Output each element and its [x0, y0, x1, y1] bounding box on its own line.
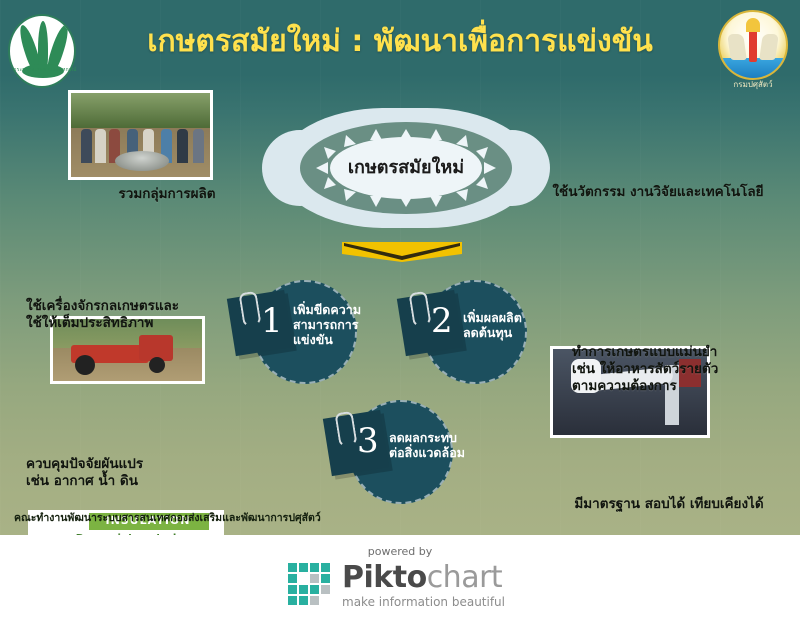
emblem-disc: [8, 14, 76, 88]
node-text-line: เพิ่มขีดความ: [293, 302, 381, 317]
node-text-line: แข่งขัน: [293, 332, 381, 347]
ministry-emblem-caption: กระทรวงเกษตรและสหกรณ์: [8, 66, 82, 74]
page-title: เกษตรสมัยใหม่ : พัฒนาเพื่อการแข่งขัน: [100, 18, 700, 66]
node-text-line: เพิ่มผลผลิต: [463, 310, 551, 325]
photo-sky: [71, 93, 210, 128]
node-2-tag: [397, 290, 463, 356]
caption-line: ควบคุมปัจจัยผันแปร: [26, 456, 252, 473]
livestock-emblem-disc: [718, 10, 788, 80]
node-1-text: เพิ่มขีดความ สามารถการ แข่งขัน: [293, 302, 381, 347]
node-3-text: ลดผลกระทบ ต่อสิ่งแวดล้อม: [389, 430, 485, 460]
emblem-horse-right: [759, 34, 779, 60]
node-2[interactable]: 2 เพิ่มผลผลิต ลดต้นทุน: [385, 278, 555, 386]
yellow-chevron-banner: [342, 240, 462, 264]
node-2-number: 2: [431, 304, 453, 338]
powered-by-label: powered by: [0, 545, 800, 558]
ministry-of-agriculture-emblem-icon: กระทรวงเกษตรและสหกรณ์: [8, 14, 82, 88]
piktochart-footer-bar: powered by: [0, 535, 800, 625]
caption-variable-control: ควบคุมปัจจัยผันแปร เช่น อากาศ น้ำ ดิน: [26, 456, 252, 490]
piktochart-wordmark: Piktochart: [342, 563, 502, 593]
piktochart-grid-icon: [288, 563, 334, 607]
caption-line: เช่น อากาศ น้ำ ดิน: [26, 473, 252, 490]
photo-person: [177, 129, 188, 163]
piktochart-tagline: make information beautiful: [342, 595, 505, 609]
photo-person: [81, 129, 92, 163]
department-of-livestock-emblem-icon: กรมปศุสัตว์: [714, 10, 792, 92]
photo-person: [193, 129, 204, 163]
caption-line: ตามความต้องการ: [572, 378, 798, 395]
node-1-tag: [227, 290, 293, 356]
footer-credit: คณะทำงานพัฒนาระบบสารสนเทศกองส่งเสริมและพ…: [14, 509, 434, 526]
caption-line: เช่น ให้อาหารสัตว์รายตัว: [572, 361, 798, 378]
caption-farmers-group: รวมกลุ่มการผลิต: [62, 186, 272, 203]
node-3-tag: [323, 410, 389, 476]
farmers-group-photo: [68, 90, 213, 180]
node-3-number: 3: [357, 424, 379, 458]
tractor-wheel: [149, 357, 165, 373]
emblem-horse-left: [727, 34, 747, 60]
node-2-text: เพิ่มผลผลิต ลดต้นทุน: [463, 310, 551, 340]
node-text-line: ต่อสิ่งแวดล้อม: [389, 445, 485, 460]
photo-basin: [115, 151, 169, 171]
infographic-poster: เกษตรสมัยใหม่ : พัฒนาเพื่อการแข่งขัน กระ…: [0, 0, 800, 625]
node-1[interactable]: 1 เพิ่มขีดความ สามารถการ แข่งขัน: [215, 278, 385, 386]
node-text-line: ลดผลกระทบ: [389, 430, 485, 445]
node-1-number: 1: [261, 304, 283, 338]
caption-precision-farming: ทำการเกษตรแบบแม่นยำ เช่น ให้อาหารสัตว์รา…: [572, 344, 798, 395]
caption-innovation-research: ใช้นวัตกรรม งานวิจัยและเทคโนโลยี: [516, 184, 800, 201]
brand-bold: Pikto: [342, 560, 427, 595]
livestock-emblem-caption: กรมปศุสัตว์: [714, 78, 792, 91]
caption-line: ทำการเกษตรแบบแม่นยำ: [572, 344, 798, 361]
piktochart-logo[interactable]: Piktochart make information beautiful: [288, 561, 512, 611]
center-badge: เกษตรสมัยใหม่: [278, 108, 534, 228]
node-3[interactable]: 3 ลดผลกระทบ ต่อสิ่งแวดล้อม: [305, 398, 485, 506]
badge-label: เกษตรสมัยใหม่: [278, 152, 534, 181]
tractor-wheel: [75, 355, 95, 375]
emblem-pillar: [749, 28, 757, 62]
caption-standards: มีมาตรฐาน สอบได้ เทียบเคียงได้: [540, 496, 798, 513]
emblem-crown: [746, 18, 760, 32]
brand-light: chart: [427, 560, 503, 595]
header-band: เกษตรสมัยใหม่ : พัฒนาเพื่อการแข่งขัน: [0, 0, 800, 84]
photo-person: [95, 129, 106, 163]
node-text-line: สามารถการ: [293, 317, 381, 332]
node-text-line: ลดต้นทุน: [463, 325, 551, 340]
